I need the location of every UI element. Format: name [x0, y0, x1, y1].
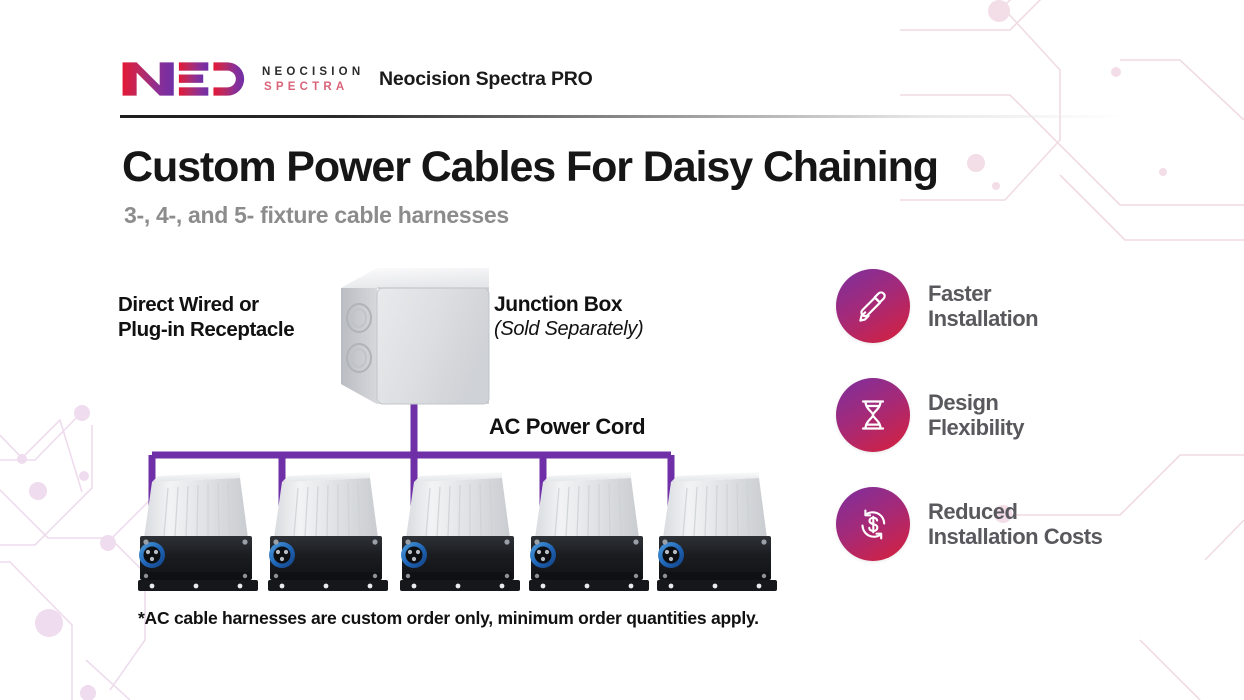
- page-title: Custom Power Cables For Daisy Chaining: [122, 142, 938, 192]
- footnote: *AC cable harnesses are custom order onl…: [138, 608, 759, 629]
- feature-label-2: Design Flexibility: [928, 390, 1024, 440]
- fixture-4: [529, 472, 649, 591]
- logo-line-spectra: SPECTRA: [262, 80, 364, 95]
- label-junction-box: Junction Box (Sold Separately): [494, 292, 643, 342]
- fixture-2: [268, 472, 388, 591]
- junction-box-graphic: [333, 262, 495, 414]
- feature-design-flexibility[interactable]: Design Flexibility: [836, 377, 1166, 453]
- hourglass-icon: [854, 396, 892, 434]
- label-ac-power-cord: AC Power Cord: [489, 414, 645, 440]
- dollar-refresh-icon: [853, 504, 893, 544]
- label-direct-wired: Direct Wired or Plug-in Receptacle: [118, 292, 294, 342]
- feature-badge-1: [836, 269, 910, 343]
- slide-root: NEOCISION SPECTRA Neocision Spectra PRO …: [0, 0, 1244, 700]
- fixture-5: [657, 472, 777, 591]
- brand-logo[interactable]: NEOCISION SPECTRA: [120, 55, 364, 103]
- screwdriver-icon: [853, 286, 893, 326]
- feature-badge-2: [836, 378, 910, 452]
- feature-label-3-line2: Installation Costs: [928, 524, 1102, 549]
- feature-list: Faster Installation Design: [836, 268, 1166, 562]
- logo-line-neocision: NEOCISION: [262, 65, 364, 80]
- label-junction-box-title: Junction Box: [494, 292, 643, 317]
- feature-label-1: Faster Installation: [928, 281, 1038, 331]
- feature-badge-3: [836, 487, 910, 561]
- fixture-3: [400, 472, 520, 591]
- product-name: Neocision Spectra PRO: [379, 68, 593, 91]
- logo-wordmark: NEOCISION SPECTRA: [262, 63, 364, 95]
- label-junction-box-note: (Sold Separately): [494, 317, 643, 342]
- feature-label-1-line2: Installation: [928, 306, 1038, 331]
- feature-reduced-installation-costs[interactable]: Reduced Installation Costs: [836, 486, 1166, 562]
- label-direct-wired-line2: Plug-in Receptacle: [118, 317, 294, 342]
- feature-label-2-line2: Flexibility: [928, 415, 1024, 440]
- feature-faster-installation[interactable]: Faster Installation: [836, 268, 1166, 344]
- feature-label-1-line1: Faster: [928, 281, 991, 306]
- feature-label-3-line1: Reduced: [928, 499, 1017, 524]
- neo-logo-icon: [120, 55, 248, 103]
- feature-label-2-line1: Design: [928, 390, 998, 415]
- fixture-1: [138, 472, 258, 591]
- feature-label-3: Reduced Installation Costs: [928, 499, 1102, 549]
- header-divider: [120, 115, 1124, 118]
- page-header: NEOCISION SPECTRA Neocision Spectra PRO: [120, 55, 1120, 115]
- page-subtitle: 3-, 4-, and 5- fixture cable harnesses: [124, 200, 509, 230]
- label-direct-wired-line1: Direct Wired or: [118, 292, 294, 317]
